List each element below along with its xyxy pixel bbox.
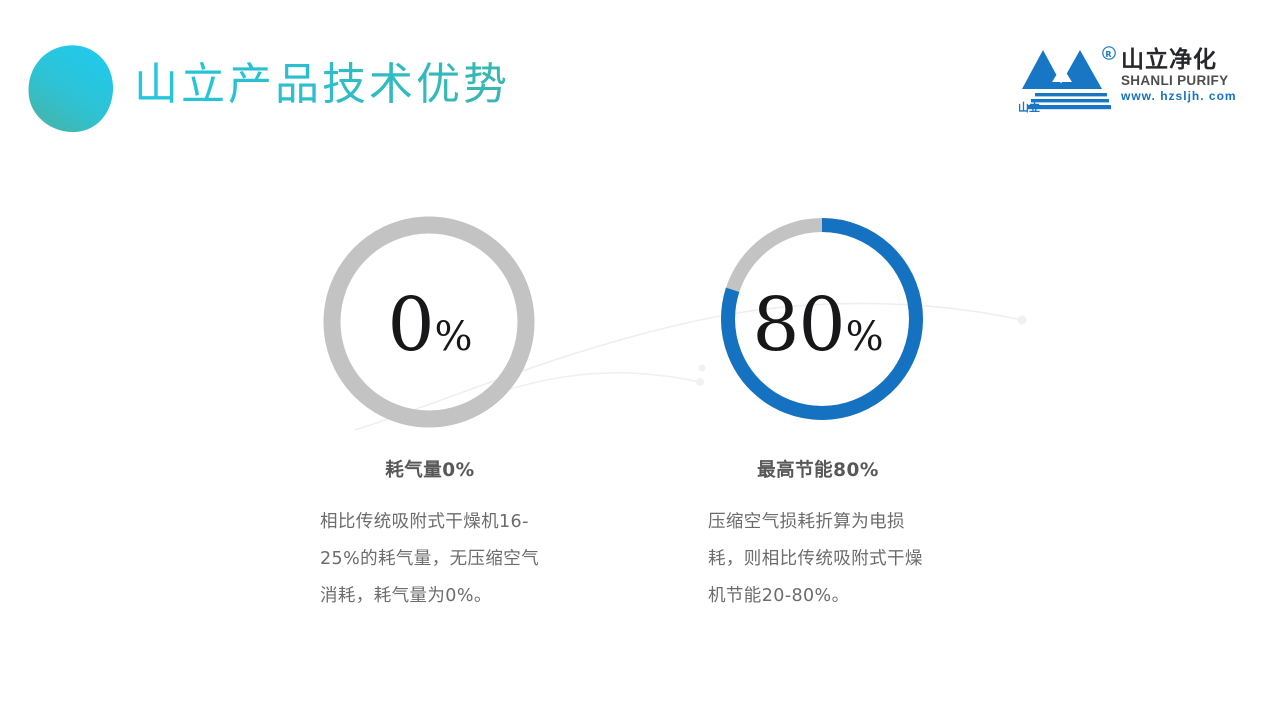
slide-header: 山立产品技术优势 山立 R 山立净化 SHANLI PURIFY <box>0 0 1280 150</box>
donut-unit-1: % <box>846 317 884 357</box>
logo-website[interactable]: www. hzsljh. com <box>1121 89 1243 104</box>
brand-logo: 山立 R 山立净化 SHANLI PURIFY www. hzsljh. com <box>1017 44 1242 119</box>
donut-unit-0: % <box>435 317 473 357</box>
donut-chart-0: 0% <box>280 200 580 450</box>
logo-company-cn: 山立净化 <box>1121 48 1243 73</box>
metric-body-1: 压缩空气损耗折算为电损耗，则相比传统吸附式干燥机节能20-80%。 <box>708 504 933 615</box>
donut-chart-1: 80% <box>668 200 968 450</box>
metric-column-energy-saving: 80% 最高节能80% 压缩空气损耗折算为电损耗，则相比传统吸附式干燥机节能20… <box>668 200 968 615</box>
svg-text:R: R <box>1105 50 1111 59</box>
donut-value-1: 80 <box>752 288 844 362</box>
logo-text-block: 山立净化 SHANLI PURIFY www. hzsljh. com <box>1121 48 1243 104</box>
metric-caption-1: 最高节能80% <box>668 456 968 482</box>
slide-canvas: 山立产品技术优势 山立 R 山立净化 SHANLI PURIFY <box>0 0 1280 720</box>
metric-column-gas-consumption: 0% 耗气量0% 相比传统吸附式干燥机16-25%的耗气量，无压缩空气消耗，耗气… <box>280 200 580 615</box>
logo-company-en: SHANLI PURIFY <box>1121 73 1243 89</box>
page-title: 山立产品技术优势 <box>134 56 510 114</box>
donut-value-0: 0 <box>387 288 433 362</box>
mountain-logo-icon: 山立 R <box>1017 44 1117 114</box>
donut-center-label-0: 0% <box>280 200 580 450</box>
decorative-blob-icon <box>25 43 117 135</box>
donut-center-label-1: 80% <box>668 200 968 450</box>
svg-text:山立: 山立 <box>1018 100 1040 114</box>
metric-caption-0: 耗气量0% <box>280 456 580 482</box>
metric-body-0: 相比传统吸附式干燥机16-25%的耗气量，无压缩空气消耗，耗气量为0%。 <box>320 504 545 615</box>
